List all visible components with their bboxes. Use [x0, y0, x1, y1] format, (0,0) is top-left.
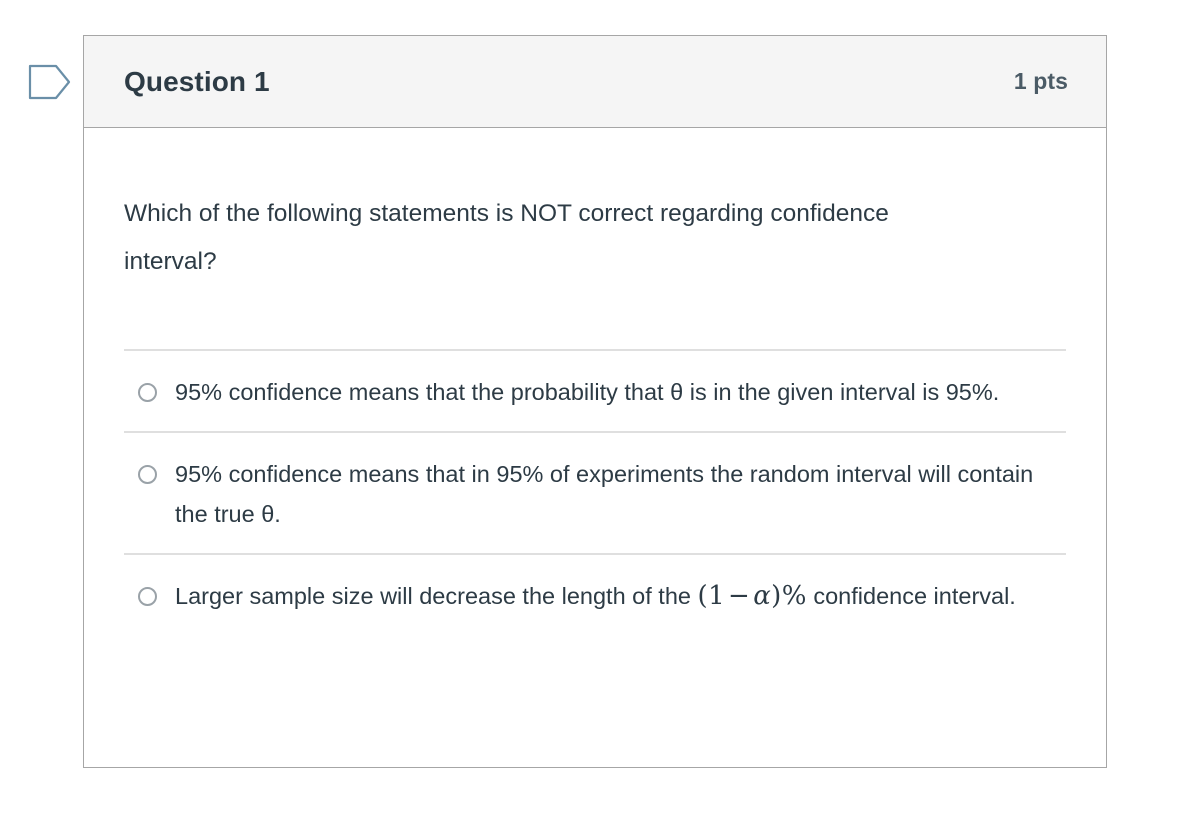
radio-button-2[interactable] [138, 465, 157, 484]
math-minus-operator: − [725, 581, 753, 611]
quiz-question-page: Question 1 1 pts Which of the following … [0, 0, 1181, 821]
math-alpha-symbol: α [753, 581, 771, 611]
answer-option-1-text: 95% confidence means that the probabilit… [175, 379, 999, 405]
flag-outline-icon[interactable] [26, 60, 72, 104]
question-body: Which of the following statements is NOT… [84, 190, 1106, 640]
answer-options-list: 95% confidence means that the probabilit… [124, 349, 1066, 640]
math-expression-confidence-level: (1−α)% [698, 581, 807, 611]
answer-option-3-label: Larger sample size will decrease the len… [175, 576, 1016, 616]
radio-button-3[interactable] [138, 587, 157, 606]
question-header: Question 1 1 pts [84, 36, 1106, 128]
radio-button-1[interactable] [138, 383, 157, 402]
question-prompt: Which of the following statements is NOT… [124, 190, 984, 286]
answer-option-1-label: 95% confidence means that the probabilit… [175, 372, 999, 412]
answer-option-2-label: 95% confidence means that in 95% of expe… [175, 454, 1066, 534]
answer-option-3-text-before: Larger sample size will decrease the len… [175, 583, 698, 609]
answer-option-1[interactable]: 95% confidence means that the probabilit… [124, 349, 1066, 431]
answer-option-3[interactable]: Larger sample size will decrease the len… [124, 553, 1066, 640]
question-card: Question 1 1 pts Which of the following … [83, 35, 1107, 768]
answer-option-2[interactable]: 95% confidence means that in 95% of expe… [124, 431, 1066, 553]
math-number-one: 1 [708, 581, 725, 611]
answer-option-3-text-after: confidence interval. [807, 583, 1016, 609]
question-points: 1 pts [1014, 68, 1068, 95]
page-title: Question 1 [124, 66, 270, 98]
math-close-paren: ) [771, 581, 782, 611]
math-open-paren: ( [698, 581, 709, 611]
answer-option-2-text: 95% confidence means that in 95% of expe… [175, 461, 1033, 527]
math-percent-sign: % [782, 581, 807, 611]
